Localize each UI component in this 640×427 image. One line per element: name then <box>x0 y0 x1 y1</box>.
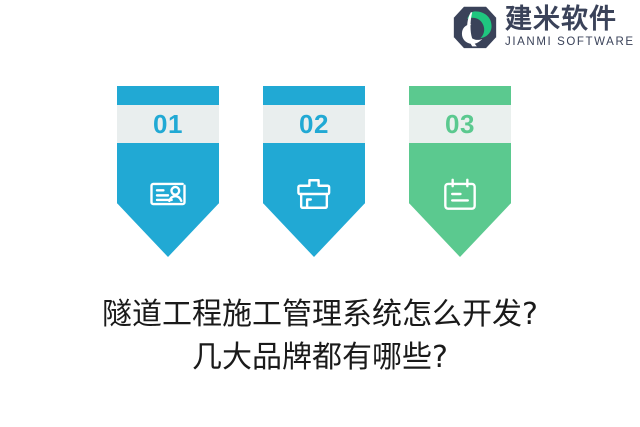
pennant-card-02[interactable]: 02 <box>263 86 365 257</box>
jianmi-hexagon-logo-icon <box>452 4 498 50</box>
pennant-card-02-band: 02 <box>263 105 365 143</box>
headline-line-2: 几大品牌都有哪些? <box>0 337 640 380</box>
pennant-card-03-band: 03 <box>409 105 511 143</box>
pennant-card-01-number: 01 <box>153 111 183 137</box>
headline: 隧道工程施工管理系统怎么开发? 几大品牌都有哪些? <box>0 294 640 379</box>
pennant-card-group: 01 02 <box>0 86 640 266</box>
pennant-card-02-number: 02 <box>299 111 329 137</box>
brand-name-cn: 建米软件 <box>505 6 635 33</box>
calendar-note-icon <box>438 172 482 216</box>
brand-name-en: JIANMI SOFTWARE <box>505 37 635 49</box>
banner-canvas: 建米软件 JIANMI SOFTWARE 01 02 <box>0 0 640 427</box>
pennant-card-03[interactable]: 03 <box>409 86 511 257</box>
brand-logo: 建米软件 JIANMI SOFTWARE <box>452 4 635 50</box>
pennant-card-01[interactable]: 01 <box>117 86 219 257</box>
pennant-card-03-number: 03 <box>445 111 475 137</box>
headline-line-1: 隧道工程施工管理系统怎么开发? <box>0 294 640 337</box>
pennant-card-01-band: 01 <box>117 105 219 143</box>
storefront-icon <box>292 172 336 216</box>
brand-text-block: 建米软件 JIANMI SOFTWARE <box>505 6 635 49</box>
contact-card-icon <box>146 172 190 216</box>
